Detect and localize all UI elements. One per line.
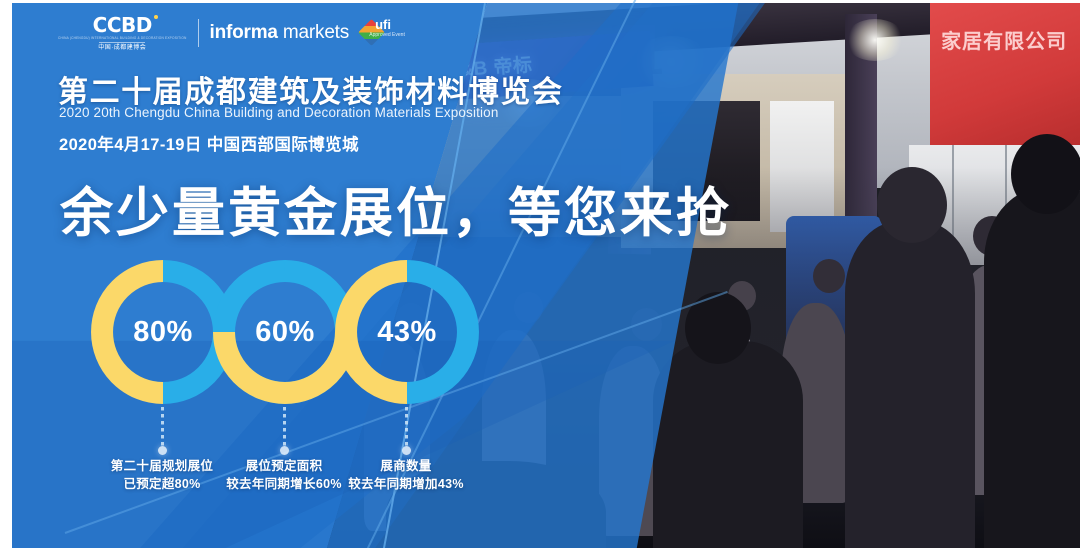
connector-dot-icon [158,446,167,455]
stat-ring-3: 43% [334,259,480,405]
ccbd-dot-icon [154,15,158,19]
stats-ring-chart: 80% 60% 43% [90,259,480,409]
page-subtitle-en: 2020 20th Chengdu China Building and Dec… [59,105,498,120]
ccbd-logo: CCBD CHINA (CHENGDU) INTERNATIONAL BUILD… [58,15,187,52]
logo-divider [198,19,199,47]
stat-caption-3-line2: 较去年同期增加43% [308,476,504,494]
stat-caption-3: 展商数量 较去年同期增加43% [308,458,504,494]
ccbd-wordmark: CCBD [93,15,152,35]
poster-content: CCBD CHINA (CHENGDU) INTERNATIONAL BUILD… [12,3,1080,548]
stat-ring-3-value: 43% [334,259,480,405]
connector-dot-icon [280,446,289,455]
ufi-wordmark: ufi [375,18,391,31]
promo-headline: 余少量黄金展位，等您来抢 [60,171,732,247]
ufi-approved-event-logo: ufi Approved Event [362,17,408,49]
stat-connector-1 [161,407,164,451]
informa-light: markets [278,22,349,43]
stat-caption-3-line1: 展商数量 [308,458,504,476]
logo-bar: CCBD CHINA (CHENGDU) INTERNATIONAL BUILD… [58,13,408,53]
ccbd-subtitle-cn: 中国·成都建博会 [98,45,146,51]
event-dateline: 2020年4月17-19日 中国西部国际博览城 [59,131,359,155]
ufi-subtitle: Approved Event [369,32,405,39]
informa-markets-logo: informa markets [210,22,350,44]
informa-bold: informa [210,22,278,43]
poster-canvas: D&B 帝标 家居有限公司 [0,0,1080,548]
ccbd-rule [99,42,145,43]
stat-connector-2 [283,407,286,451]
ccbd-subtitle-en: CHINA (CHENGDU) INTERNATIONAL BUILDING &… [58,37,187,41]
connector-dot-icon [402,446,411,455]
stat-connector-3 [405,407,408,451]
